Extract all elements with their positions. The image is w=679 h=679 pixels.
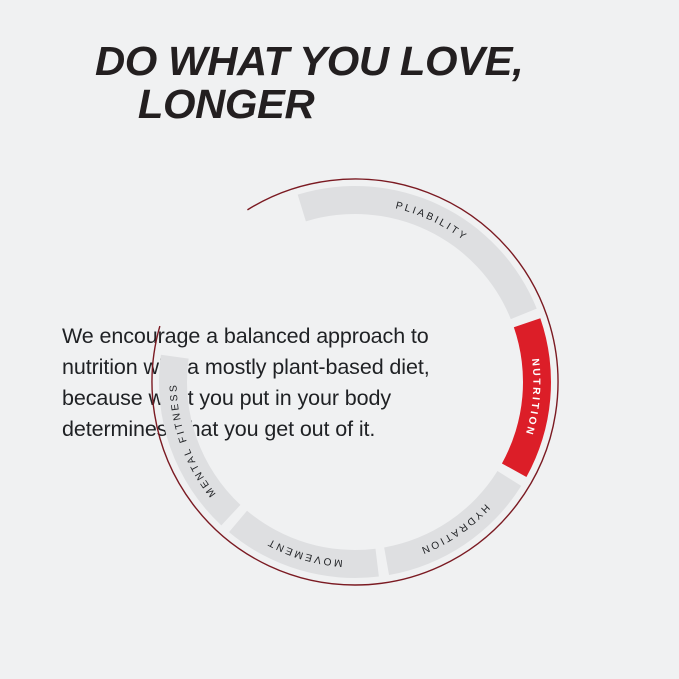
pillars-ring-diagram: PLIABILITYNUTRITIONHYDRATIONMOVEMENTMENT…	[0, 0, 679, 679]
ring-outline-arc	[152, 179, 558, 585]
ring-segment-nutrition[interactable]	[502, 318, 551, 477]
ring-segment-mental-fitness[interactable]	[159, 355, 240, 526]
ring-segment-pliability[interactable]	[298, 186, 537, 319]
ring-segments	[159, 186, 551, 578]
ring-segment-movement[interactable]	[229, 511, 379, 578]
poster-canvas: DO WHAT YOU LOVE, LONGER We encourage a …	[0, 0, 679, 679]
ring-outline-path	[152, 179, 558, 585]
